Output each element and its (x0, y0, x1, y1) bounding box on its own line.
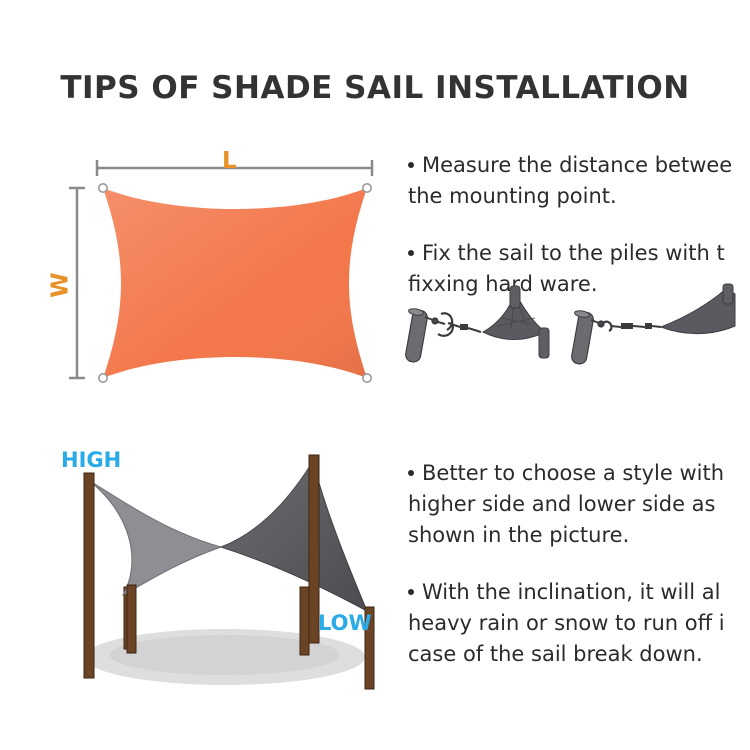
tip-line: case of the sail break down. (408, 639, 725, 670)
tip-line: Measure the distance betwee (408, 150, 732, 181)
tip-line: the mounting point. (408, 181, 732, 212)
hardware-illustration-right (571, 284, 735, 365)
pile-post-icon (571, 310, 595, 365)
bullet-icon (408, 589, 414, 595)
fixing-hardware-diagram (405, 282, 750, 367)
shade-sail-light (87, 479, 221, 595)
bullet-icon (408, 250, 414, 256)
sail-dimensions-diagram (55, 140, 400, 405)
bullet-icon (408, 162, 414, 168)
length-dimension-label: L (222, 148, 237, 174)
sail-dimensions-svg (55, 140, 400, 405)
tip-paragraph: Better to choose a style with higher sid… (408, 458, 725, 551)
shade-sail-dark (221, 461, 367, 611)
tip-paragraph: With the inclination, it will al heavy r… (408, 577, 725, 670)
tip-line: Better to choose a style with (408, 458, 725, 489)
pile-post-icon (405, 308, 428, 363)
tip-line: Fix the sail to the piles with t (408, 238, 732, 269)
low-side-label: LOW (318, 611, 372, 635)
tip-paragraph: Measure the distance betwee the mounting… (408, 150, 732, 212)
tip-line: heavy rain or snow to run off i (408, 608, 725, 639)
cable-turnbuckle-icon (591, 320, 661, 331)
high-side-label: HIGH (61, 448, 121, 472)
hardware-illustration-left (405, 286, 549, 363)
high-low-svg (35, 435, 405, 710)
bullet-icon (408, 470, 414, 476)
tips-column-bottom: Better to choose a style with higher sid… (408, 458, 725, 696)
tip-line: shown in the picture. (408, 520, 725, 551)
turnbuckle-icon (425, 313, 481, 336)
support-post-right (723, 284, 733, 304)
infographic-page: TIPS OF SHADE SAIL INSTALLATION (0, 0, 750, 750)
tip-line: With the inclination, it will al (408, 577, 725, 608)
hardware-svg (405, 282, 750, 367)
high-low-sails-diagram (35, 435, 405, 710)
width-dimension-label: W (48, 272, 74, 297)
page-title: TIPS OF SHADE SAIL INSTALLATION (0, 70, 750, 106)
orange-shade-sail (103, 188, 367, 378)
tip-line: higher side and lower side as (408, 489, 725, 520)
